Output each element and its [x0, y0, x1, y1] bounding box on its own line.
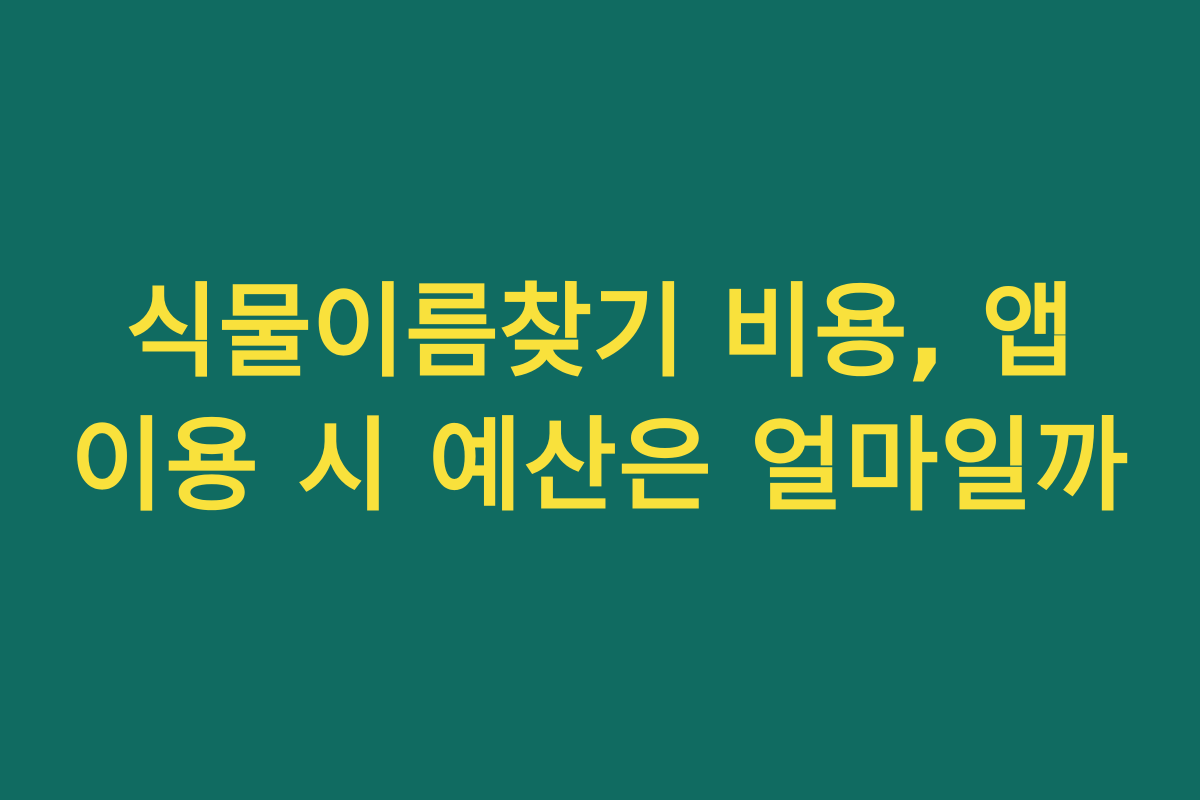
- headline-line-2: 이용 시 예산은 얼마일까: [65, 400, 1135, 534]
- headline-text: 식물이름찾기 비용, 앱 이용 시 예산은 얼마일까: [65, 266, 1135, 534]
- headline-line-1: 식물이름찾기 비용, 앱: [65, 266, 1135, 400]
- banner-canvas: 식물이름찾기 비용, 앱 이용 시 예산은 얼마일까: [0, 0, 1200, 800]
